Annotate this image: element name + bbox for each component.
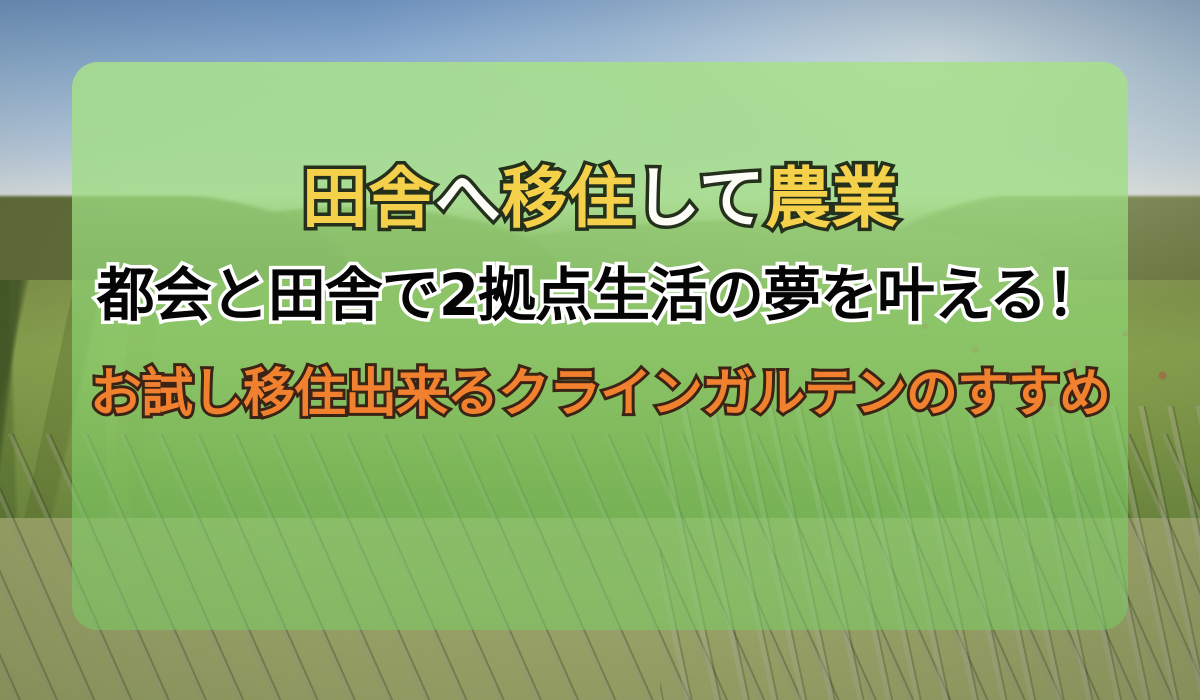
thumbnail-canvas: 田舎へ移住して農業 都会と田舎で2拠点生活の夢を叶える！ お試し移住出来るクライ…	[0, 0, 1200, 700]
tag-line: お試し移住出来るクラインガルテンのすすめ	[90, 368, 1110, 420]
sub-title: 都会と田舎で2拠点生活の夢を叶える！	[97, 266, 1104, 324]
main-title-segment-5: 農業	[765, 160, 898, 237]
main-title: 田舎へ移住して農業	[302, 166, 899, 232]
text-stack: 田舎へ移住して農業 都会と田舎で2拠点生活の夢を叶える！ お試し移住出来るクライ…	[0, 0, 1200, 700]
main-title-segment-1: 田舎	[302, 160, 435, 237]
main-title-segment-4: して	[634, 160, 765, 237]
main-title-segment-2: へ	[435, 160, 502, 237]
main-title-segment-3: 移住	[501, 160, 634, 237]
